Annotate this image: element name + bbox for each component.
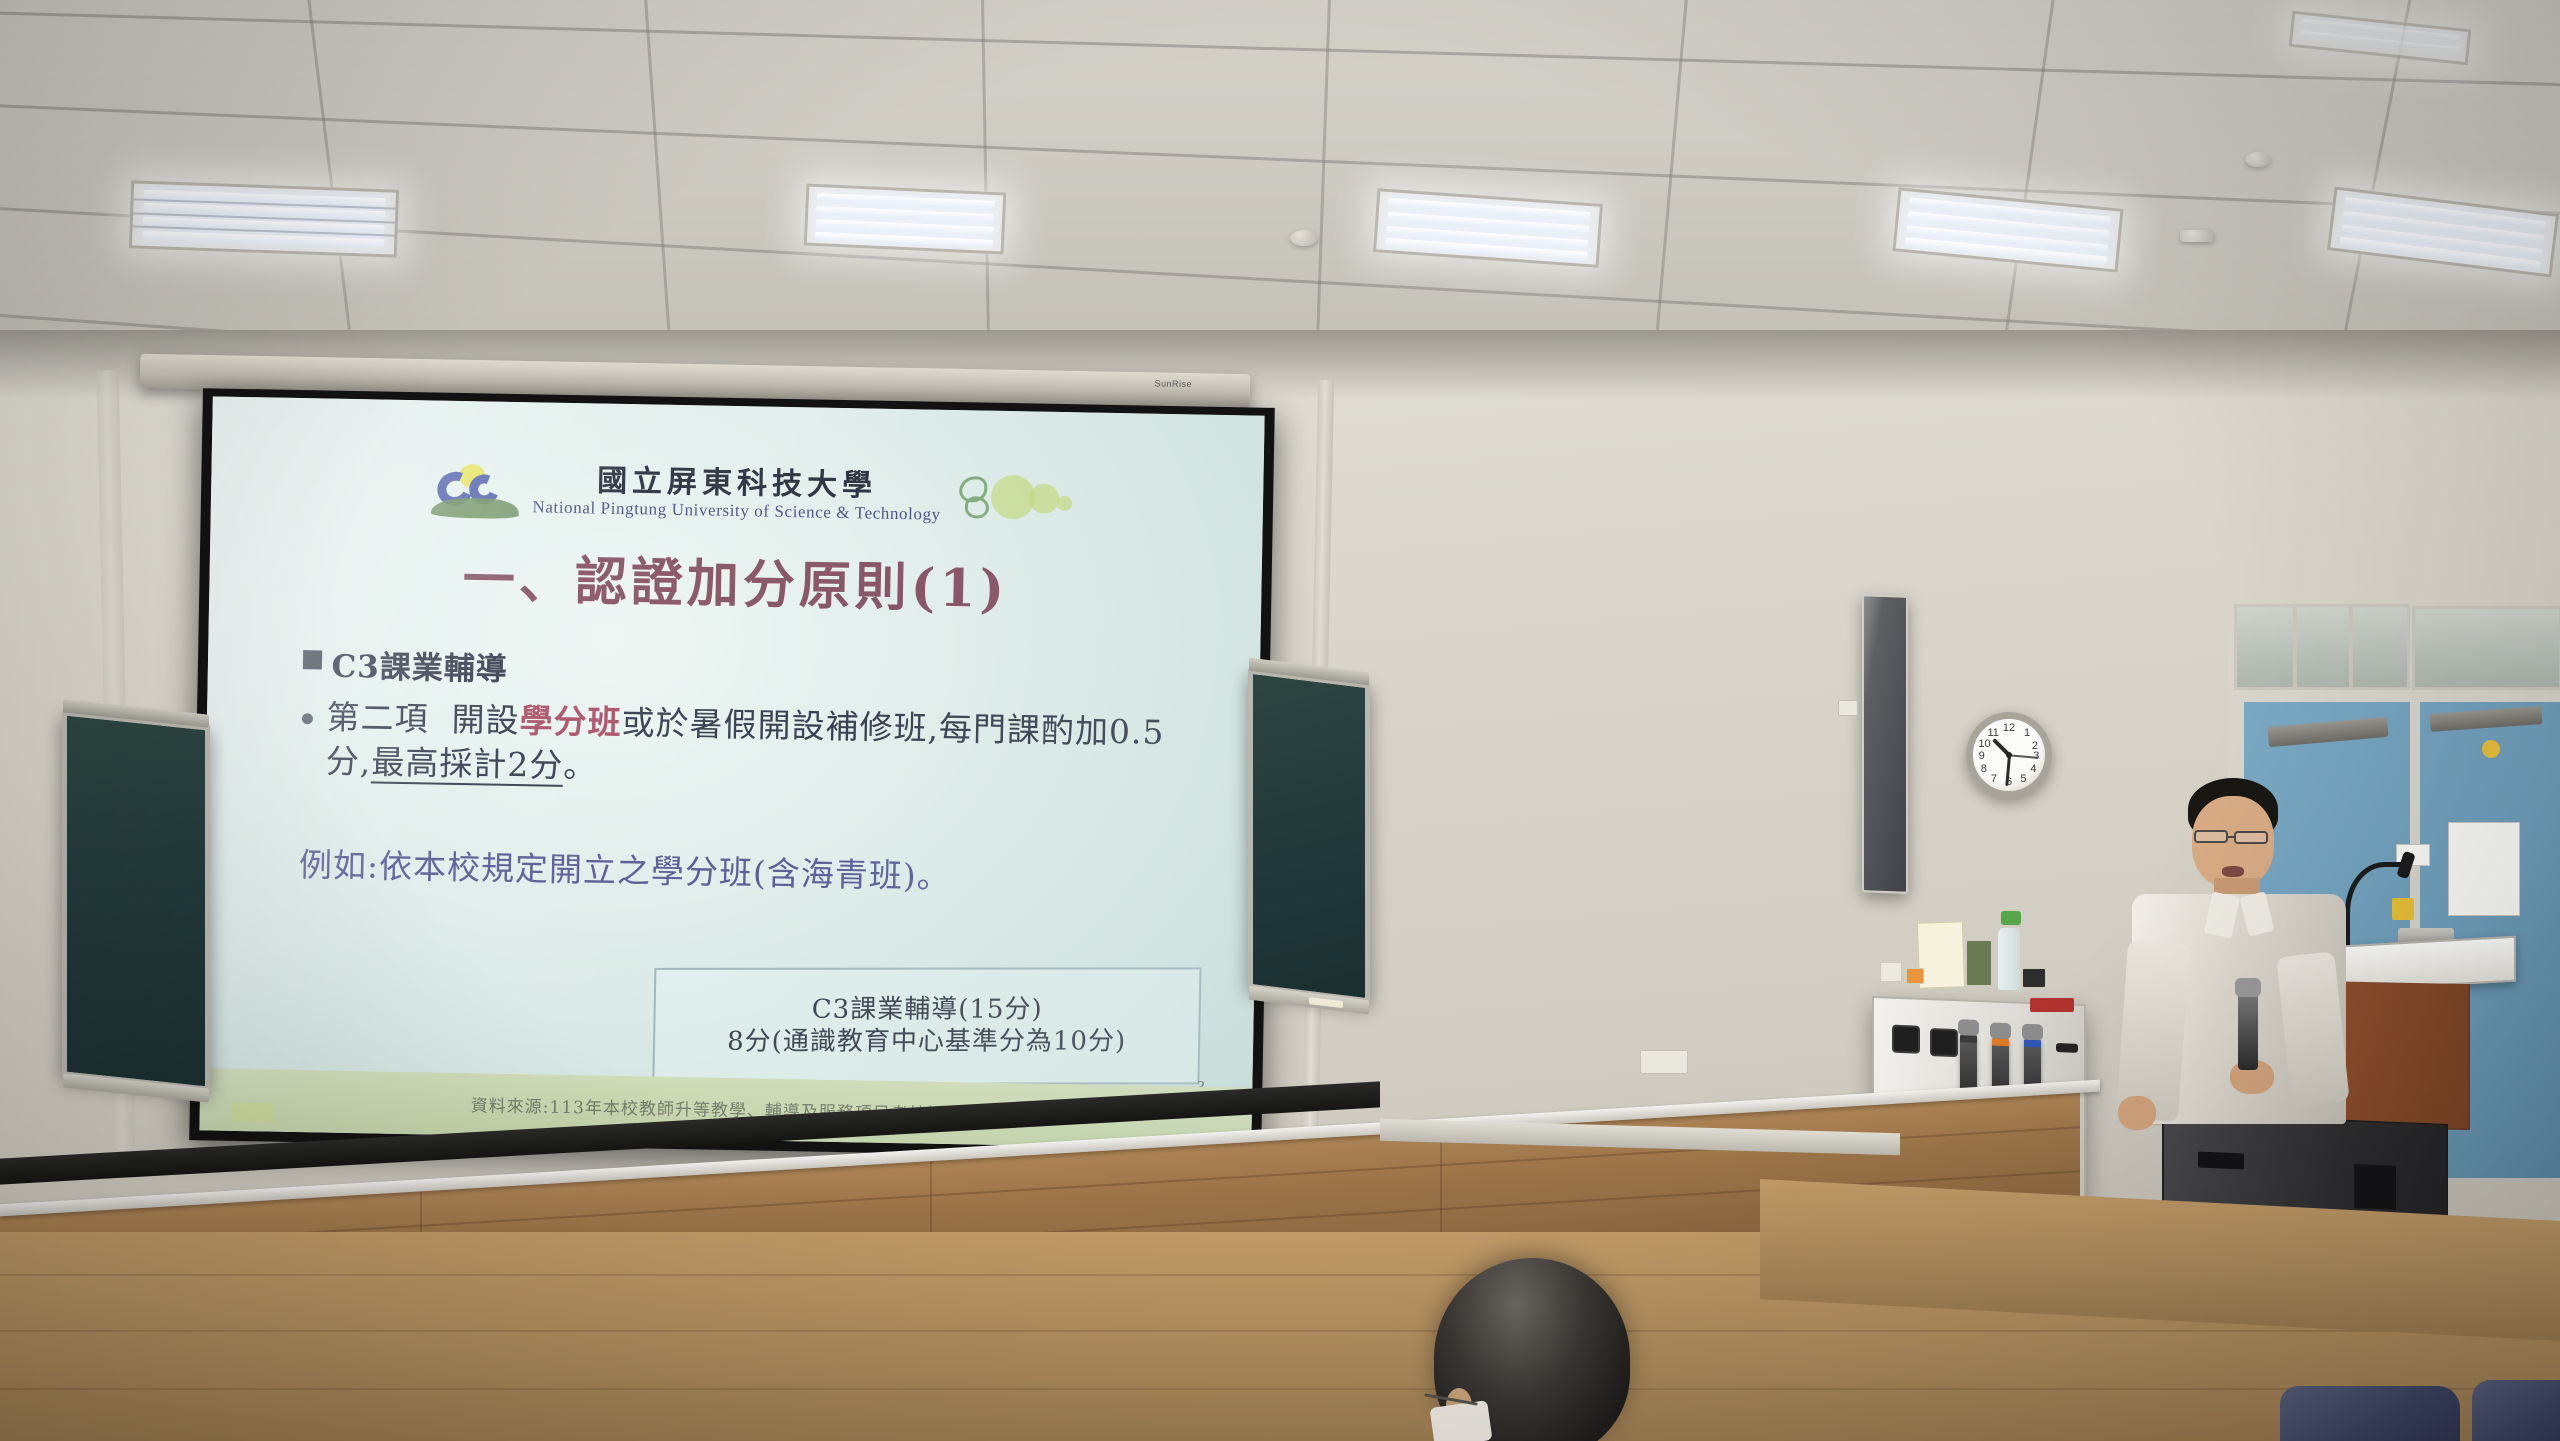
section-bullet: C3課業輔導 bbox=[302, 640, 1197, 701]
wall-mounted-speaker bbox=[1862, 594, 1908, 894]
cabinet-hook bbox=[2056, 1043, 2078, 1053]
cabinet-fan-grille bbox=[1930, 1028, 1958, 1057]
body-bullet: 第二項 開設學分班或於暑假開設補修班,每門課酌加0.5分,最高採計2分。 bbox=[300, 695, 1196, 800]
cabinet-fan-grille bbox=[1892, 1025, 1920, 1054]
body-lead: 第二項 bbox=[326, 698, 429, 739]
dot-bullet-icon bbox=[302, 713, 313, 724]
ceiling-light bbox=[2289, 11, 2472, 66]
body-highlight: 學分班 bbox=[519, 701, 622, 742]
body-part3: 。 bbox=[563, 746, 598, 786]
screen-brand-label: SunRise bbox=[1154, 378, 1192, 389]
ceiling-light bbox=[1373, 188, 1603, 268]
smoke-detector bbox=[1290, 230, 1318, 246]
ceiling-vent bbox=[2180, 230, 2214, 242]
door-transom-window bbox=[2234, 604, 2410, 690]
cabinet-red-label bbox=[2030, 998, 2074, 1012]
door-header bbox=[2228, 690, 2560, 702]
auditorium-chair[interactable] bbox=[2280, 1386, 2460, 1441]
clock-numeral: 5 bbox=[2020, 773, 2026, 785]
auditorium-chair[interactable] bbox=[2472, 1380, 2560, 1441]
door-sticker bbox=[2482, 740, 2500, 758]
clock-numeral: 1 bbox=[2024, 727, 2030, 739]
ceiling-light bbox=[2327, 186, 2559, 277]
cabinet-item-box bbox=[2022, 968, 2046, 988]
door-notice-sheet bbox=[2448, 822, 2520, 916]
glasses-bridge bbox=[2228, 836, 2236, 838]
slide-example: 例如:依本校規定開立之學分班(含海青班)。 bbox=[299, 838, 1194, 902]
university-name-cn: 國立屏東科技大學 bbox=[597, 466, 878, 502]
door-transom-window bbox=[2412, 606, 2560, 690]
mic-head-icon bbox=[2022, 1024, 2043, 1041]
slide-callout-box: C3課業輔導(15分) 8分(通識教育中心基準分為10分) bbox=[653, 967, 1202, 1085]
handheld-microphone[interactable] bbox=[2238, 994, 2258, 1070]
clock-numeral: 9 bbox=[1979, 750, 1985, 762]
cabinet-item-box bbox=[1966, 940, 1992, 986]
face-mask bbox=[1429, 1400, 1492, 1441]
chalkboard-left bbox=[62, 710, 210, 1092]
footer-swatch bbox=[231, 1102, 273, 1123]
presenter bbox=[2104, 778, 2404, 1198]
clock-numeral: 8 bbox=[1981, 763, 1987, 775]
mic-head-icon bbox=[1958, 1019, 1979, 1036]
clock-numeral: 7 bbox=[1991, 773, 1997, 785]
presenter-mouth bbox=[2222, 866, 2244, 877]
ceiling-light bbox=[804, 183, 1007, 254]
wall-clock: 12 1 2 3 4 5 6 7 8 9 10 11 bbox=[1966, 712, 2052, 798]
cabinet-item-box bbox=[1906, 968, 1924, 984]
power-off-reminder-sign bbox=[1917, 921, 1965, 989]
square-bullet-icon bbox=[303, 650, 322, 669]
npust-logo-icon bbox=[430, 460, 519, 520]
slide-body: C3課業輔導 第二項 開設學分班或於暑假開設補修班,每門課酌加0.5分,最高採計… bbox=[300, 640, 1197, 800]
butterfly-icon bbox=[955, 470, 1076, 528]
clock-center-pin bbox=[2006, 752, 2012, 758]
presentation-slide: 國立屏東科技大學 National Pingtung University of… bbox=[199, 396, 1264, 1149]
clock-numeral: 11 bbox=[1987, 727, 1998, 739]
drop-ceiling bbox=[0, 0, 2560, 380]
lecture-hall-photo: SunRise 國立屏東科技大學 National Pingtung Unive… bbox=[0, 0, 2560, 1441]
chalkboard-right bbox=[1248, 669, 1370, 1004]
mic-head-icon bbox=[1990, 1022, 2011, 1039]
clock-numeral: 12 bbox=[2003, 722, 2015, 734]
presenter-glasses bbox=[2194, 830, 2228, 843]
projection-screen: 國立屏東科技大學 National Pingtung University of… bbox=[189, 388, 1275, 1160]
ceiling-light bbox=[129, 180, 399, 257]
presenter-left-hand bbox=[2118, 1096, 2156, 1130]
clock-numeral: 4 bbox=[2030, 763, 2036, 775]
ceiling-light bbox=[1892, 187, 2123, 272]
clock-numeral: 10 bbox=[1978, 738, 1990, 750]
body-part1: 開設 bbox=[451, 700, 520, 740]
university-name-en: National Pingtung University of Science … bbox=[532, 499, 941, 524]
cabinet-item-box bbox=[1880, 962, 1902, 982]
wall-outlet bbox=[1640, 1050, 1688, 1074]
wall-outlet bbox=[1838, 700, 1858, 716]
presenter-glasses bbox=[2234, 831, 2268, 844]
callout-line-1: C3課業輔導(15分) bbox=[812, 994, 1043, 1026]
spray-nozzle bbox=[2000, 910, 2022, 926]
presenter-left-arm bbox=[2116, 940, 2190, 1122]
callout-line-2: 8分(通識教育中心基準分為10分) bbox=[727, 1026, 1127, 1058]
mic-head-icon bbox=[2235, 978, 2261, 997]
section-bullet-label: C3課業輔導 bbox=[331, 641, 508, 689]
spray-bottle bbox=[1998, 928, 2020, 990]
smoke-detector bbox=[2245, 152, 2271, 167]
body-underline: 最高採計2分 bbox=[371, 743, 564, 788]
